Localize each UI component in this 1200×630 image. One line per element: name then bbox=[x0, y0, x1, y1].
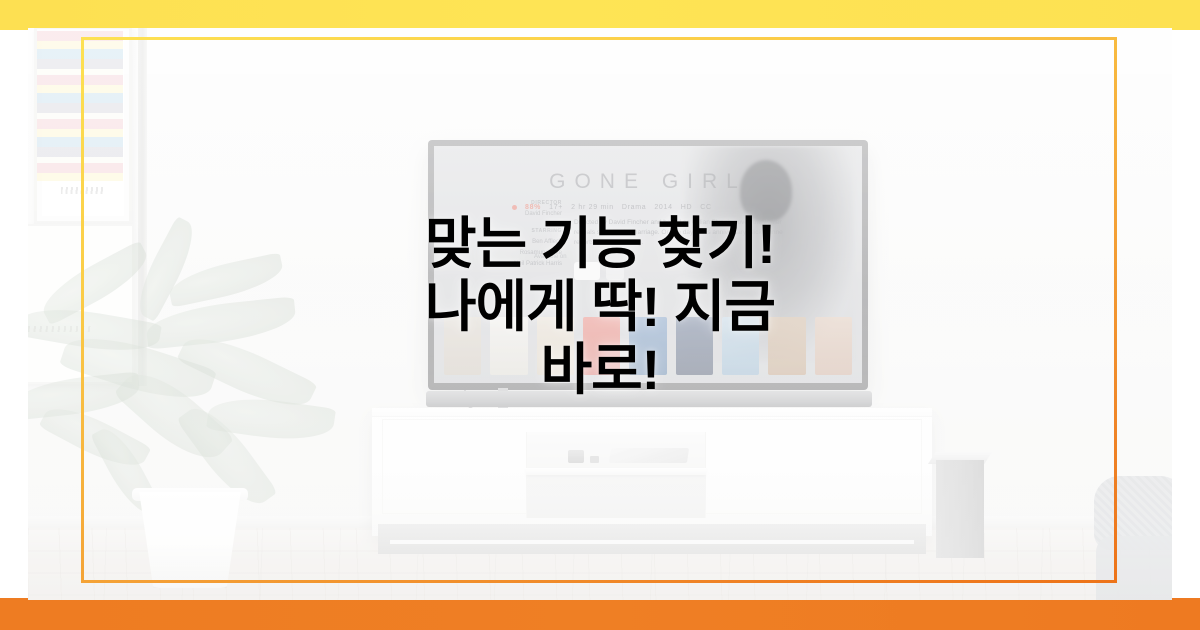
shelf-device-player bbox=[609, 448, 689, 463]
art-stripes bbox=[37, 31, 123, 181]
tv-movie-title: GONE GIRL bbox=[434, 170, 862, 194]
console-shelf-divider bbox=[526, 468, 706, 475]
tv-meta-year: 2014 bbox=[654, 204, 672, 211]
headline-text: 맞는 기능 찾기! 나에게 딱! 지금 바로! bbox=[0, 212, 1200, 401]
border-bottom-edge bbox=[0, 598, 1200, 630]
tv-meta-duration: 2 hr 29 min bbox=[571, 204, 614, 211]
media-console bbox=[372, 408, 932, 536]
floor-speaker bbox=[936, 460, 984, 558]
console-plinth bbox=[378, 524, 926, 554]
thumbnail-canvas: GONE GIRL 88% 17+ 2 hr 29 min Drama 2014… bbox=[0, 0, 1200, 630]
console-open-shelf bbox=[526, 432, 706, 518]
chair-base bbox=[1096, 536, 1172, 600]
tv-director-label: DIRECTOR bbox=[484, 198, 562, 209]
wall-art-striped bbox=[34, 28, 132, 224]
console-top-surface bbox=[372, 408, 932, 417]
art-signature bbox=[61, 187, 105, 194]
shelf-device-receiver bbox=[568, 450, 584, 463]
shelf-device-small bbox=[590, 456, 599, 463]
plant-pot bbox=[136, 492, 244, 588]
border-top-edge bbox=[0, 0, 1200, 30]
tv-meta-genre: Drama bbox=[622, 204, 647, 211]
tv-meta-badge-cc: CC bbox=[700, 204, 712, 211]
console-shadow-line bbox=[390, 540, 914, 544]
tv-meta-badge-hd: HD bbox=[681, 204, 693, 211]
